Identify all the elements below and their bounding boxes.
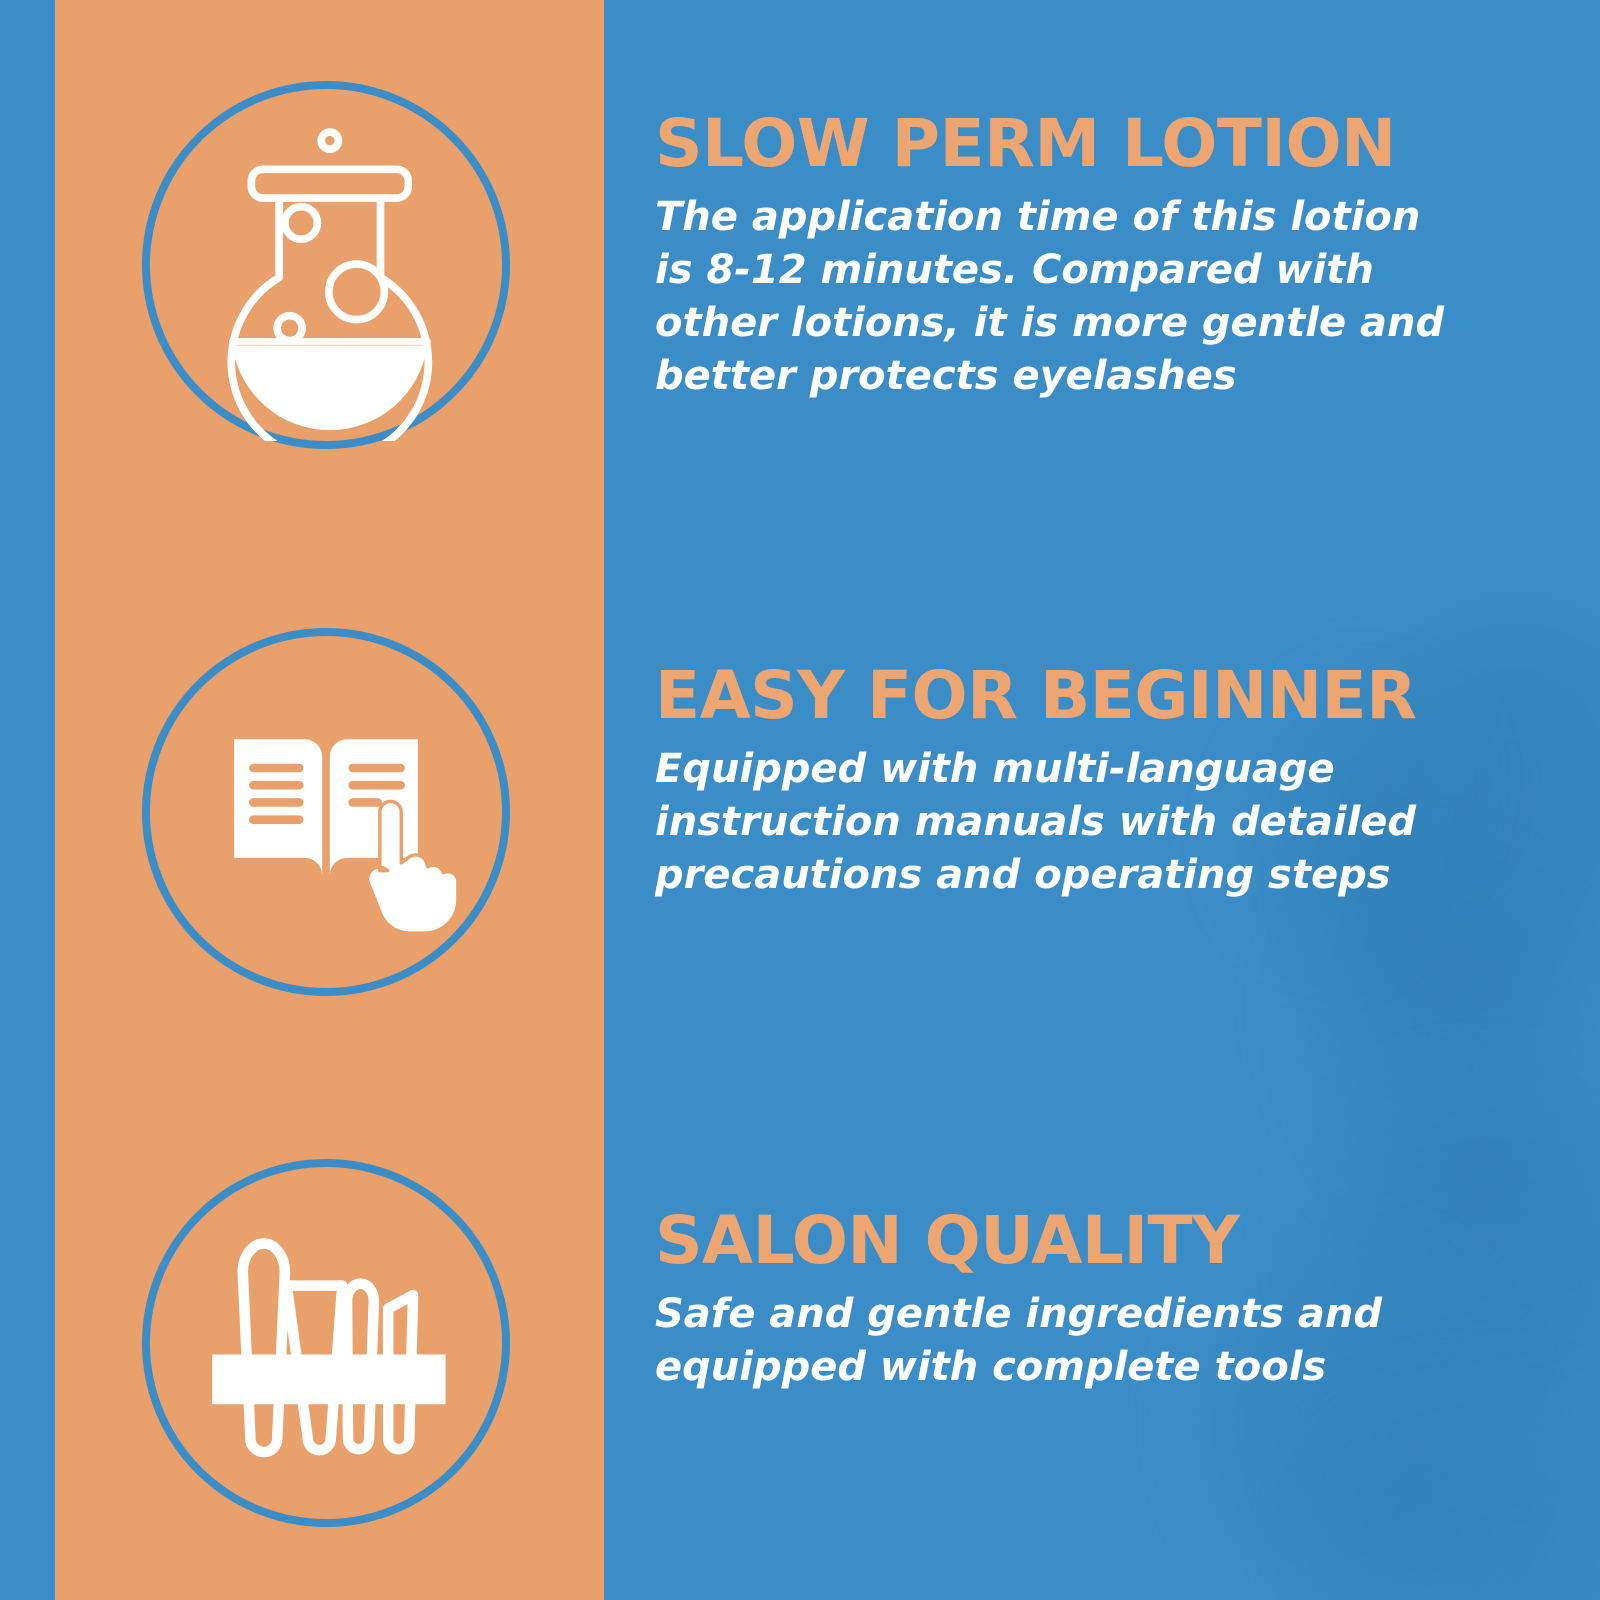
feature-block-2: EASY FOR BEGINNER Equipped with multi-la… <box>655 662 1535 902</box>
flask-icon <box>150 89 502 441</box>
feature-description-2: Equipped with multi-language instruction… <box>655 743 1455 901</box>
open-book-with-pointing-hand-icon <box>150 636 502 988</box>
feature-description-3: Safe and gentle ingredients and equipped… <box>655 1288 1455 1394</box>
feature-icon-circle-3 <box>142 1159 510 1527</box>
makeup-brush-set-icon <box>150 1167 502 1519</box>
feature-block-3: SALON QUALITY Safe and gentle ingredient… <box>655 1207 1535 1394</box>
feature-icon-circle-1 <box>142 81 510 449</box>
feature-block-1: SLOW PERM LOTION The application time of… <box>655 110 1535 403</box>
infographic-page: SLOW PERM LOTION The application time of… <box>0 0 1600 1600</box>
feature-title-1: SLOW PERM LOTION <box>655 110 1535 177</box>
feature-title-3: SALON QUALITY <box>655 1207 1535 1274</box>
feature-description-1: The application time of this lotion is 8… <box>655 191 1455 402</box>
background-watermark-shape <box>1330 1420 1600 1600</box>
feature-title-2: EASY FOR BEGINNER <box>655 662 1535 729</box>
feature-icon-circle-2 <box>142 628 510 996</box>
